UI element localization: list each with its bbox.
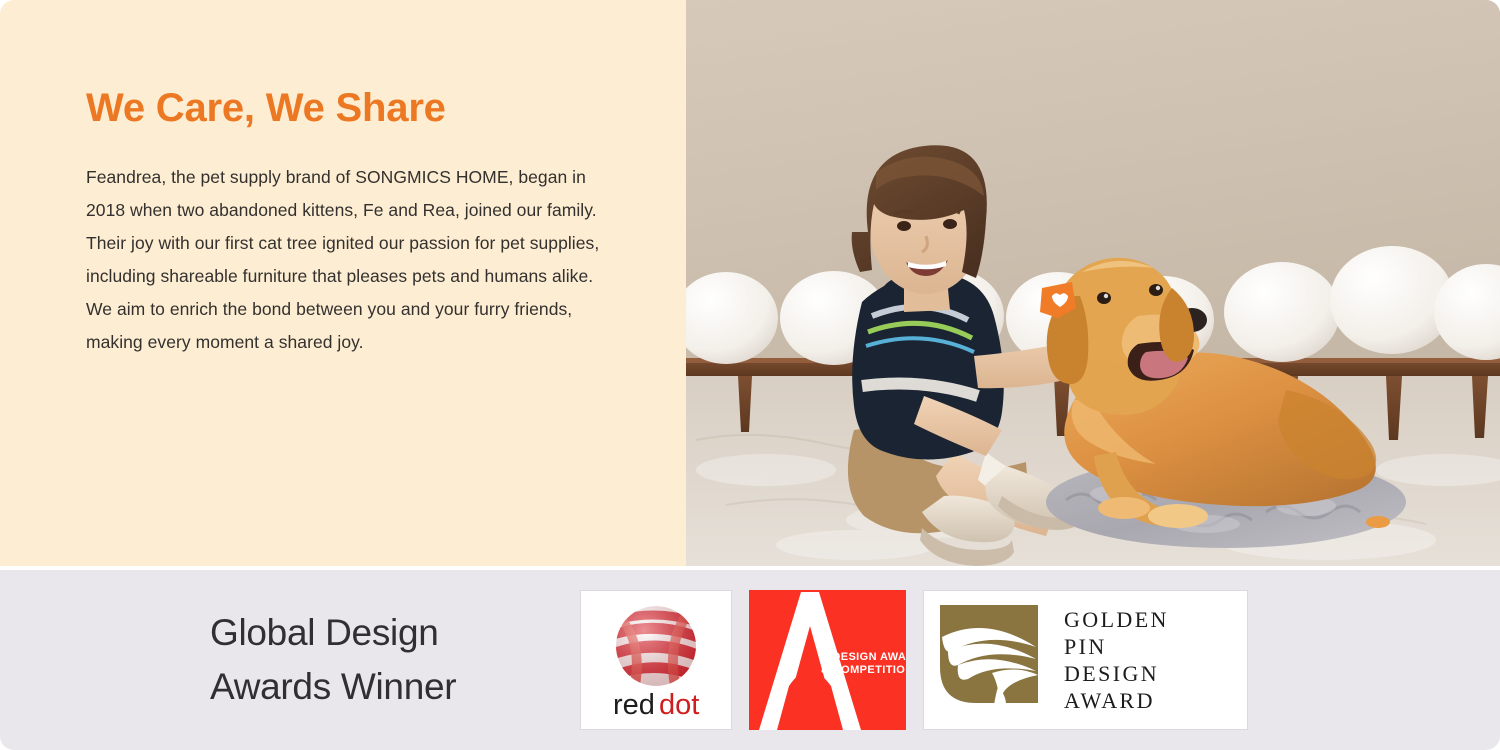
golden-pin-design-award-logo[interactable]: GOLDEN PIN DESIGN AWARD	[923, 590, 1248, 730]
goldenpin-logo-mark: GOLDEN PIN DESIGN AWARD	[936, 601, 1236, 719]
adesign-line2: & COMPETITION	[821, 664, 906, 676]
top-band: We Care, We Share Feandrea, the pet supp…	[0, 0, 1500, 566]
story-paragraph: Feandrea, the pet supply brand of SONGMI…	[86, 161, 606, 359]
adesign-logo-mark: A'DESIGN AWARD & COMPETITION	[749, 590, 906, 730]
reddot-text-accent: dot	[659, 689, 699, 721]
page-title: We Care, We Share	[86, 86, 616, 131]
lifestyle-photo	[686, 0, 1500, 566]
story-panel: We Care, We Share Feandrea, the pet supp…	[0, 0, 686, 566]
photo-illustration	[686, 0, 1500, 566]
awards-logo-list: red dot A'DESIGN AWARD & COMPETITION	[580, 590, 1248, 730]
awards-heading: Global Design Awards Winner	[210, 606, 580, 714]
brand-story-banner: We Care, We Share Feandrea, the pet supp…	[0, 0, 1500, 750]
awards-heading-line1: Global Design	[210, 606, 580, 660]
reddot-text-dark: red	[613, 689, 655, 721]
goldenpin-line3: DESIGN	[1064, 661, 1159, 686]
goldenpin-emblem	[940, 605, 1038, 705]
adesign-award-logo[interactable]: A'DESIGN AWARD & COMPETITION	[749, 590, 906, 730]
awards-band: Global Design Awards Winner	[0, 570, 1500, 750]
goldenpin-line1: GOLDEN	[1064, 607, 1169, 632]
reddot-logo-mark: red dot	[586, 596, 726, 724]
awards-heading-line2: Awards Winner	[210, 660, 580, 714]
goldenpin-line4: AWARD	[1064, 688, 1155, 713]
goldenpin-line2: PIN	[1064, 634, 1107, 659]
orange-toy	[1366, 516, 1390, 528]
reddot-award-logo[interactable]: red dot	[580, 590, 732, 730]
adesign-line1: A'DESIGN AWARD	[821, 651, 906, 663]
